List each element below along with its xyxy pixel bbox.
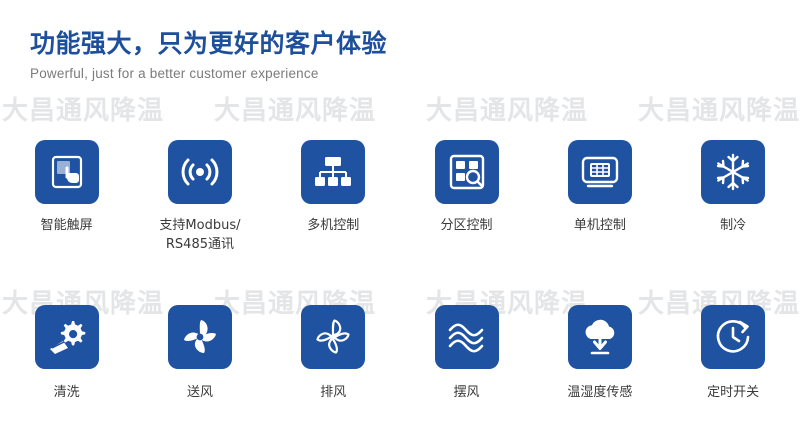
feature-tile xyxy=(168,305,232,369)
watermark-row-top: 大昌通风降温 大昌通风降温 大昌通风降温 大昌通风降温 xyxy=(0,90,800,127)
feature-item-cleaning: 清洗 xyxy=(0,305,133,402)
feature-item-multi-unit: 多机控制 xyxy=(267,140,400,254)
feature-item-cooling: 制冷 xyxy=(666,140,799,254)
multi-unit-network-icon xyxy=(314,154,352,190)
exhaust-fan-icon xyxy=(313,317,353,357)
feature-item-timer-switch: 定时开关 xyxy=(666,305,799,402)
feature-grid-row-1: 智能触屏 支持Modbus/ RS485通讯 xyxy=(0,140,800,254)
cleaning-gear-icon xyxy=(47,318,87,356)
humidity-cloud-icon xyxy=(580,319,620,355)
feature-item-exhaust-air: 排风 xyxy=(267,305,400,402)
feature-label: 温湿度传感 xyxy=(567,383,632,402)
feature-label: 分区控制 xyxy=(441,216,493,235)
supply-fan-icon xyxy=(180,317,220,357)
header: 功能强大，只为更好的客户体验 Powerful, just for a bett… xyxy=(30,28,387,81)
feature-label: 清洗 xyxy=(54,383,80,402)
feature-label: 多机控制 xyxy=(307,216,359,235)
feature-tile xyxy=(435,305,499,369)
page-subtitle: Powerful, just for a better customer exp… xyxy=(30,66,387,81)
feature-item-temp-humidity-sensor: 温湿度传感 xyxy=(533,305,666,402)
swing-airflow-icon xyxy=(447,321,487,353)
poster-page: 功能强大，只为更好的客户体验 Powerful, just for a bett… xyxy=(0,0,800,441)
feature-label: 智能触屏 xyxy=(41,216,93,235)
watermark-text: 大昌通风降温 xyxy=(638,90,800,127)
feature-tile xyxy=(701,140,765,204)
watermark-text: 大昌通风降温 xyxy=(426,90,588,127)
feature-item-single-unit: 单机控制 xyxy=(533,140,666,254)
feature-grid-row-2: 清洗 送风 xyxy=(0,305,800,402)
single-unit-panel-icon xyxy=(580,155,620,189)
feature-item-supply-air: 送风 xyxy=(133,305,266,402)
snowflake-icon xyxy=(714,153,752,191)
feature-item-modbus: 支持Modbus/ RS485通讯 xyxy=(133,140,266,254)
feature-label: 送风 xyxy=(187,383,213,402)
feature-label: 摆风 xyxy=(454,383,480,402)
feature-tile xyxy=(568,305,632,369)
feature-label: 制冷 xyxy=(720,216,746,235)
feature-label: 支持Modbus/ RS485通讯 xyxy=(159,216,240,254)
feature-tile xyxy=(301,140,365,204)
feature-item-smart-touch: 智能触屏 xyxy=(0,140,133,254)
feature-tile xyxy=(435,140,499,204)
feature-tile xyxy=(35,305,99,369)
touch-screen-icon xyxy=(48,153,86,191)
feature-label: 单机控制 xyxy=(574,216,626,235)
feature-tile xyxy=(35,140,99,204)
zone-search-icon xyxy=(448,153,486,191)
wireless-signal-icon xyxy=(180,155,220,189)
feature-label: 排风 xyxy=(320,383,346,402)
feature-item-zone-control: 分区控制 xyxy=(400,140,533,254)
feature-tile xyxy=(568,140,632,204)
feature-tile xyxy=(701,305,765,369)
feature-tile xyxy=(168,140,232,204)
feature-label: 定时开关 xyxy=(707,383,759,402)
feature-item-swing-air: 摆风 xyxy=(400,305,533,402)
watermark-text: 大昌通风降温 xyxy=(214,90,376,127)
feature-tile xyxy=(301,305,365,369)
page-title: 功能强大，只为更好的客户体验 xyxy=(30,28,387,60)
watermark-text: 大昌通风降温 xyxy=(2,90,164,127)
timer-clock-icon xyxy=(714,318,752,356)
